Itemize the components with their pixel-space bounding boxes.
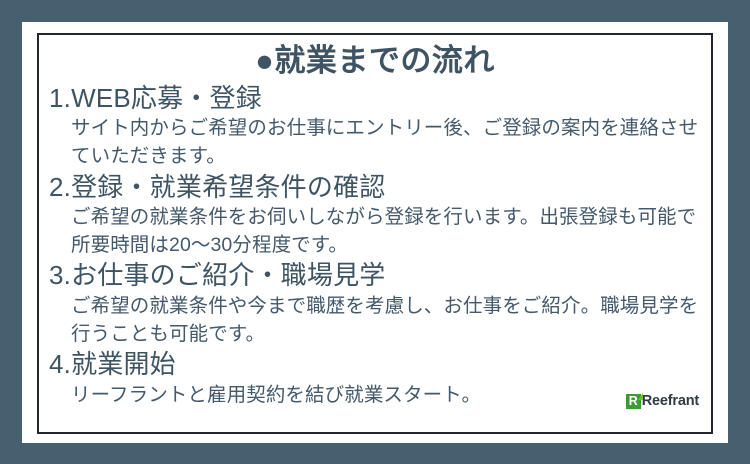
page-title: ●就業までの流れ	[49, 41, 701, 81]
reefrant-wordmark: Reefrant	[642, 394, 699, 409]
reefrant-logo-mark-icon: R	[626, 394, 641, 409]
step-body-1: サイト内からご希望のお仕事にエントリー後、ご登録の案内を連絡させていただきます。	[71, 115, 701, 170]
step-heading-1: 1.WEB応募・登録	[49, 82, 701, 116]
step-heading-2: 2.登録・就業希望条件の確認	[49, 171, 701, 205]
steps-list: 1.WEB応募・登録 サイト内からご希望のお仕事にエントリー後、ご登録の案内を連…	[49, 82, 701, 410]
step-heading-4: 4.就業開始	[49, 348, 701, 382]
step-body-2: ご希望の就業条件をお伺いしながら登録を行います。出張登録も可能で所要時間は20〜…	[71, 204, 701, 259]
bordered-frame: ●就業までの流れ 1.WEB応募・登録 サイト内からご希望のお仕事にエントリー後…	[37, 33, 713, 434]
paper-sheet: ●就業までの流れ 1.WEB応募・登録 サイト内からご希望のお仕事にエントリー後…	[22, 22, 728, 443]
step-item-1: 1.WEB応募・登録 サイト内からご希望のお仕事にエントリー後、ご登録の案内を連…	[49, 82, 701, 171]
reefrant-logo: R Reefrant	[626, 394, 699, 410]
step-body-3: ご希望の就業条件や今まで職歴を考慮し、お仕事をご紹介。職場見学を行うことも可能で…	[71, 293, 701, 348]
step-item-2: 2.登録・就業希望条件の確認 ご希望の就業条件をお伺いしながら登録を行います。出…	[49, 171, 701, 260]
final-step-row: リーフラントと雇用契約を結び就業スタート。 R Reefrant	[49, 382, 701, 410]
content-area: ●就業までの流れ 1.WEB応募・登録 サイト内からご希望のお仕事にエントリー後…	[39, 35, 711, 432]
step-body-4: リーフラントと雇用契約を結び就業スタート。	[71, 382, 481, 410]
poster: ●就業までの流れ 1.WEB応募・登録 サイト内からご希望のお仕事にエントリー後…	[0, 0, 750, 464]
step-item-4: 4.就業開始 リーフラントと雇用契約を結び就業スタート。 R Reefrant	[49, 348, 701, 409]
logo-mark-accent-icon	[638, 393, 643, 400]
step-heading-3: 3.お仕事のご紹介・職場見学	[49, 259, 701, 293]
step-item-3: 3.お仕事のご紹介・職場見学 ご希望の就業条件や今まで職歴を考慮し、お仕事をご紹…	[49, 259, 701, 348]
